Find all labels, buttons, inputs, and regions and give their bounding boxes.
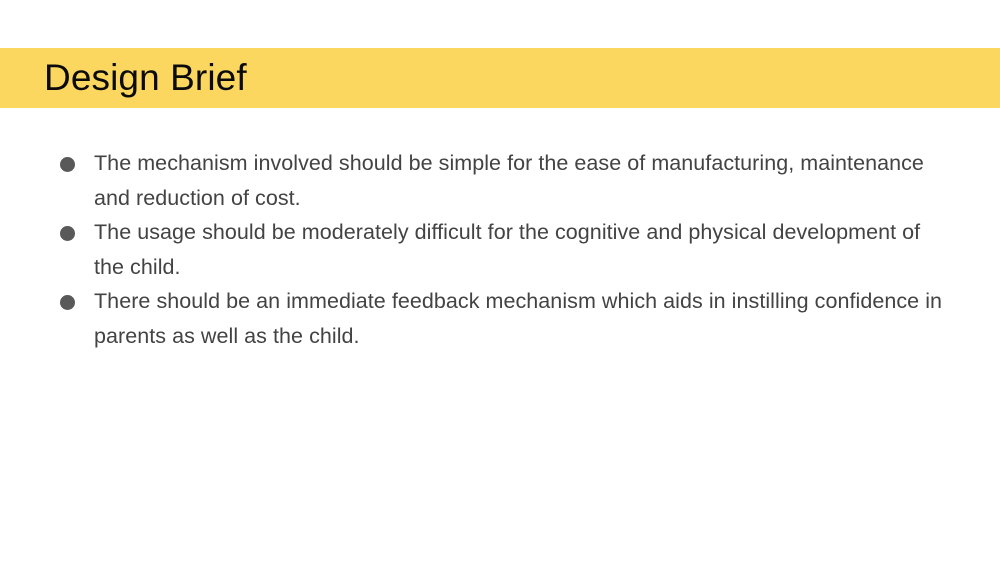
list-item-text: The usage should be moderately difficult… — [94, 215, 954, 284]
presentation-slide: Design Brief The mechanism involved shou… — [0, 0, 1000, 563]
list-item-text: There should be an immediate feedback me… — [94, 284, 954, 353]
list-item: There should be an immediate feedback me… — [0, 284, 1000, 353]
filled-circle-bullet-icon — [60, 157, 75, 172]
bullet-list: The mechanism involved should be simple … — [0, 146, 1000, 353]
list-item: The mechanism involved should be simple … — [0, 146, 1000, 215]
page-title: Design Brief — [44, 48, 247, 108]
list-item: The usage should be moderately difficult… — [0, 215, 1000, 284]
list-item-text: The mechanism involved should be simple … — [94, 146, 954, 215]
title-banner: Design Brief — [0, 48, 1000, 108]
filled-circle-bullet-icon — [60, 226, 75, 241]
filled-circle-bullet-icon — [60, 295, 75, 310]
